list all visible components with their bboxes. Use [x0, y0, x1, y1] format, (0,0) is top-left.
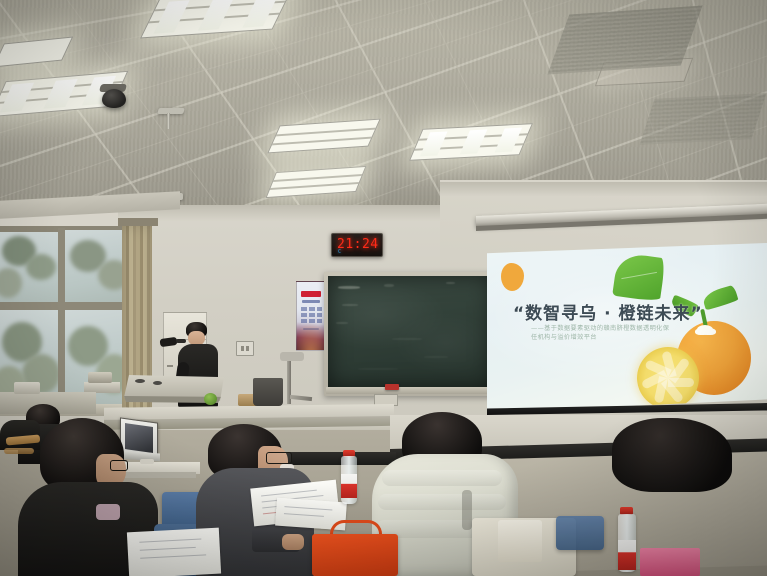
- ceiling-speaker: [102, 89, 126, 108]
- right-wall-cornice: [440, 182, 767, 196]
- jacket-seam: [462, 490, 472, 530]
- student-center-hand: [282, 534, 304, 550]
- window-mullion-vertical: [58, 228, 65, 410]
- projector-rod: [167, 113, 170, 129]
- lectern-knob-2: [153, 381, 162, 385]
- wall-poster: [296, 281, 326, 351]
- clock-time: 21:24: [337, 237, 379, 252]
- curtain-rail: [118, 218, 158, 226]
- ceiling-light-5: [409, 123, 533, 161]
- green-object-on-desk: [204, 393, 217, 405]
- papers-left[interactable]: [127, 528, 221, 576]
- slide-title: “数智寻乌 · 橙链未来”: [513, 299, 703, 324]
- slide-subtitle-line-1: ——基于数据要素驱动的赣南脐橙数据透明化保: [531, 323, 669, 332]
- led-wall-clock: 21:24 C: [331, 233, 383, 257]
- window-pane-top-left: [0, 232, 58, 304]
- collar-detail: [96, 504, 120, 520]
- classroom-photo: 21:24 C: [0, 0, 767, 576]
- waste-bin: [253, 378, 283, 406]
- tote-inner-paper: [498, 520, 542, 562]
- orange-tote-bag[interactable]: [312, 534, 398, 576]
- lectern-knob-1: [135, 379, 145, 383]
- side-shelf-box: [88, 372, 112, 383]
- clock-subdisplay: C: [338, 249, 341, 255]
- chair-blue-2: [556, 516, 604, 550]
- microphone-stem: [176, 339, 186, 343]
- blackboard-eraser: [385, 384, 399, 390]
- water-bottle-2-label: [618, 540, 636, 570]
- blackboard: [328, 276, 492, 388]
- slide-orange-half-icon: [637, 347, 699, 409]
- wall-socket[interactable]: [236, 341, 254, 356]
- ceiling-vent-2: [640, 93, 767, 145]
- projector-ceiling-plate: [157, 108, 185, 114]
- window-mullion-horizontal: [0, 302, 130, 310]
- slide-subtitle-line-2: 任机构与溢价增效平台: [531, 332, 597, 341]
- projection-screen: “数智寻乌 · 橙链未来” ——基于数据要素驱动的赣南脐橙数据透明化保 任机构与…: [487, 243, 767, 413]
- slide-orange-calyx: [697, 325, 713, 334]
- ceiling-vent: [547, 5, 702, 74]
- water-bottle-1-label: [341, 474, 357, 498]
- chair-seat-back: [280, 352, 304, 361]
- window-pane-top-right: [64, 230, 128, 302]
- chalk-tray: [326, 387, 496, 394]
- counter-item: [14, 382, 40, 394]
- pink-case[interactable]: [640, 548, 700, 576]
